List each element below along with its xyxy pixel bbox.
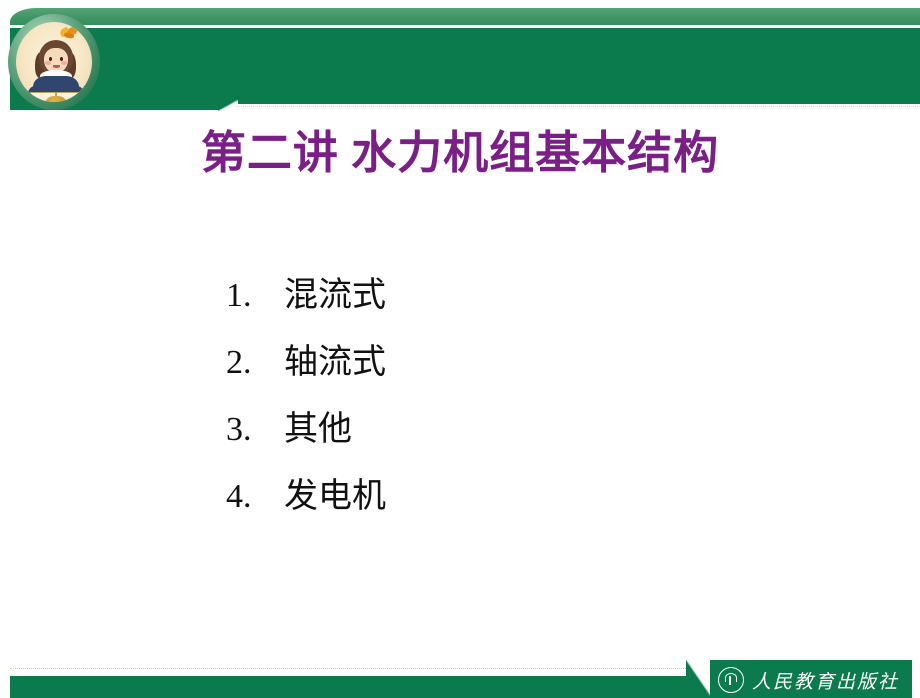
- list-item-number: 3.: [226, 396, 284, 463]
- footer-bar-left: [10, 676, 690, 698]
- medallion-inner-disc: [16, 22, 92, 102]
- footer-dotted-line: [10, 668, 700, 669]
- list-item-number: 2.: [226, 329, 284, 396]
- list-item-label: 发电机: [284, 463, 386, 530]
- header-dark-band-right: [232, 28, 920, 104]
- girl-reading-book-medallion-icon: [8, 14, 100, 110]
- slide-canvas: { "slide": { "title": "第二讲 水力机组基本结构", "t…: [0, 0, 920, 690]
- peoples-education-press-logo-icon: [718, 667, 744, 693]
- girl-illustration: [16, 22, 92, 102]
- list-item[interactable]: 2. 轴流式: [226, 329, 746, 396]
- list-item[interactable]: 3. 其他: [226, 396, 746, 463]
- footer-ramp: [686, 660, 712, 698]
- header-dotted-hairline: [236, 106, 920, 108]
- list-item-label: 轴流式: [284, 329, 386, 396]
- slide-header: [0, 0, 920, 118]
- slide-title: 第二讲 水力机组基本结构: [0, 124, 920, 182]
- publisher-name: 人民教育出版社: [752, 667, 899, 694]
- slide-footer: 人民教育出版社: [0, 632, 920, 690]
- list-item-number: 1.: [226, 262, 284, 329]
- header-light-band: [10, 8, 920, 25]
- list-item[interactable]: 4. 发电机: [226, 463, 746, 530]
- list-item[interactable]: 1. 混流式: [226, 262, 746, 329]
- numbered-list: 1. 混流式 2. 轴流式 3. 其他 4. 发电机: [226, 262, 746, 530]
- list-item-number: 4.: [226, 463, 284, 530]
- list-item-label: 混流式: [284, 262, 386, 329]
- medallion-clip: [16, 22, 92, 102]
- list-item-label: 其他: [284, 396, 352, 463]
- header-step-notch: [218, 100, 238, 111]
